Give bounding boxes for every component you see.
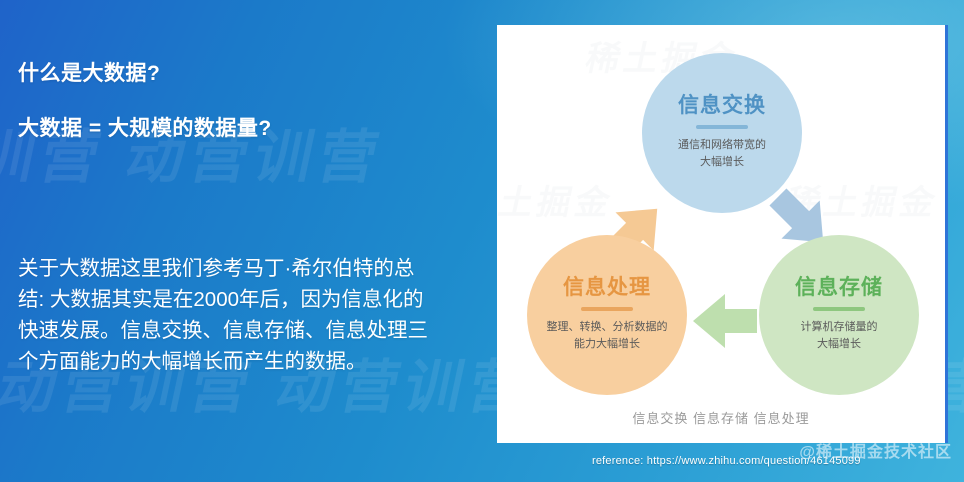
circle-description-line: 整理、转换、分析数据的 bbox=[547, 319, 668, 336]
circle-description-line: 大幅增长 bbox=[678, 154, 766, 171]
circle-description-line: 通信和网络带宽的 bbox=[678, 137, 766, 154]
circle-information-storage[interactable]: 信息存储 计算机存储量的 大幅增长 bbox=[759, 235, 919, 395]
circle-divider bbox=[696, 125, 748, 129]
circle-description-line: 能力大幅增长 bbox=[547, 336, 668, 353]
slide-heading-primary: 什么是大数据? bbox=[18, 57, 160, 87]
circle-title: 信息处理 bbox=[563, 277, 651, 298]
circle-description-line: 大幅增长 bbox=[801, 336, 878, 353]
cycle-diagram: 信息交换 通信和网络带宽的 大幅增长 信息处理 整理、转换、分析数据的 能力大幅… bbox=[497, 25, 945, 443]
diagram-caption: 信息交换 信息存储 信息处理 bbox=[497, 408, 945, 427]
left-text-column: 什么是大数据? 大数据 = 大规模的数据量? 关于大数据这里我们参考马丁·希尔伯… bbox=[18, 0, 458, 482]
slide-body-paragraph: 关于大数据这里我们参考马丁·希尔伯特的总结: 大数据其实是在2000年后，因为信… bbox=[18, 253, 438, 377]
reference-label: reference: bbox=[592, 455, 644, 467]
circle-title: 信息存储 bbox=[795, 277, 883, 298]
circle-information-processing[interactable]: 信息处理 整理、转换、分析数据的 能力大幅增长 bbox=[527, 235, 687, 395]
circle-description: 通信和网络带宽的 大幅增长 bbox=[678, 137, 766, 171]
circle-divider bbox=[813, 307, 865, 311]
circle-information-exchange[interactable]: 信息交换 通信和网络带宽的 大幅增长 bbox=[642, 53, 802, 213]
circle-title: 信息交换 bbox=[678, 95, 766, 116]
slide-heading-secondary: 大数据 = 大规模的数据量? bbox=[18, 112, 272, 142]
brand-watermark: @稀土掘金技术社区 bbox=[799, 438, 952, 462]
circle-description-line: 计算机存储量的 bbox=[801, 319, 878, 336]
circle-description: 计算机存储量的 大幅增长 bbox=[801, 319, 878, 353]
circle-divider bbox=[581, 307, 633, 311]
circle-description: 整理、转换、分析数据的 能力大幅增长 bbox=[547, 319, 668, 353]
slide-root: 动营训营 动营训营 动营训营 动营训营 动营训营 动营训营 动营训营 动营训营 … bbox=[0, 0, 964, 482]
diagram-card: 稀土掘金 稀土掘金 稀土掘金 信息交 bbox=[497, 25, 948, 443]
arrow-storage-to-process bbox=[693, 294, 757, 348]
